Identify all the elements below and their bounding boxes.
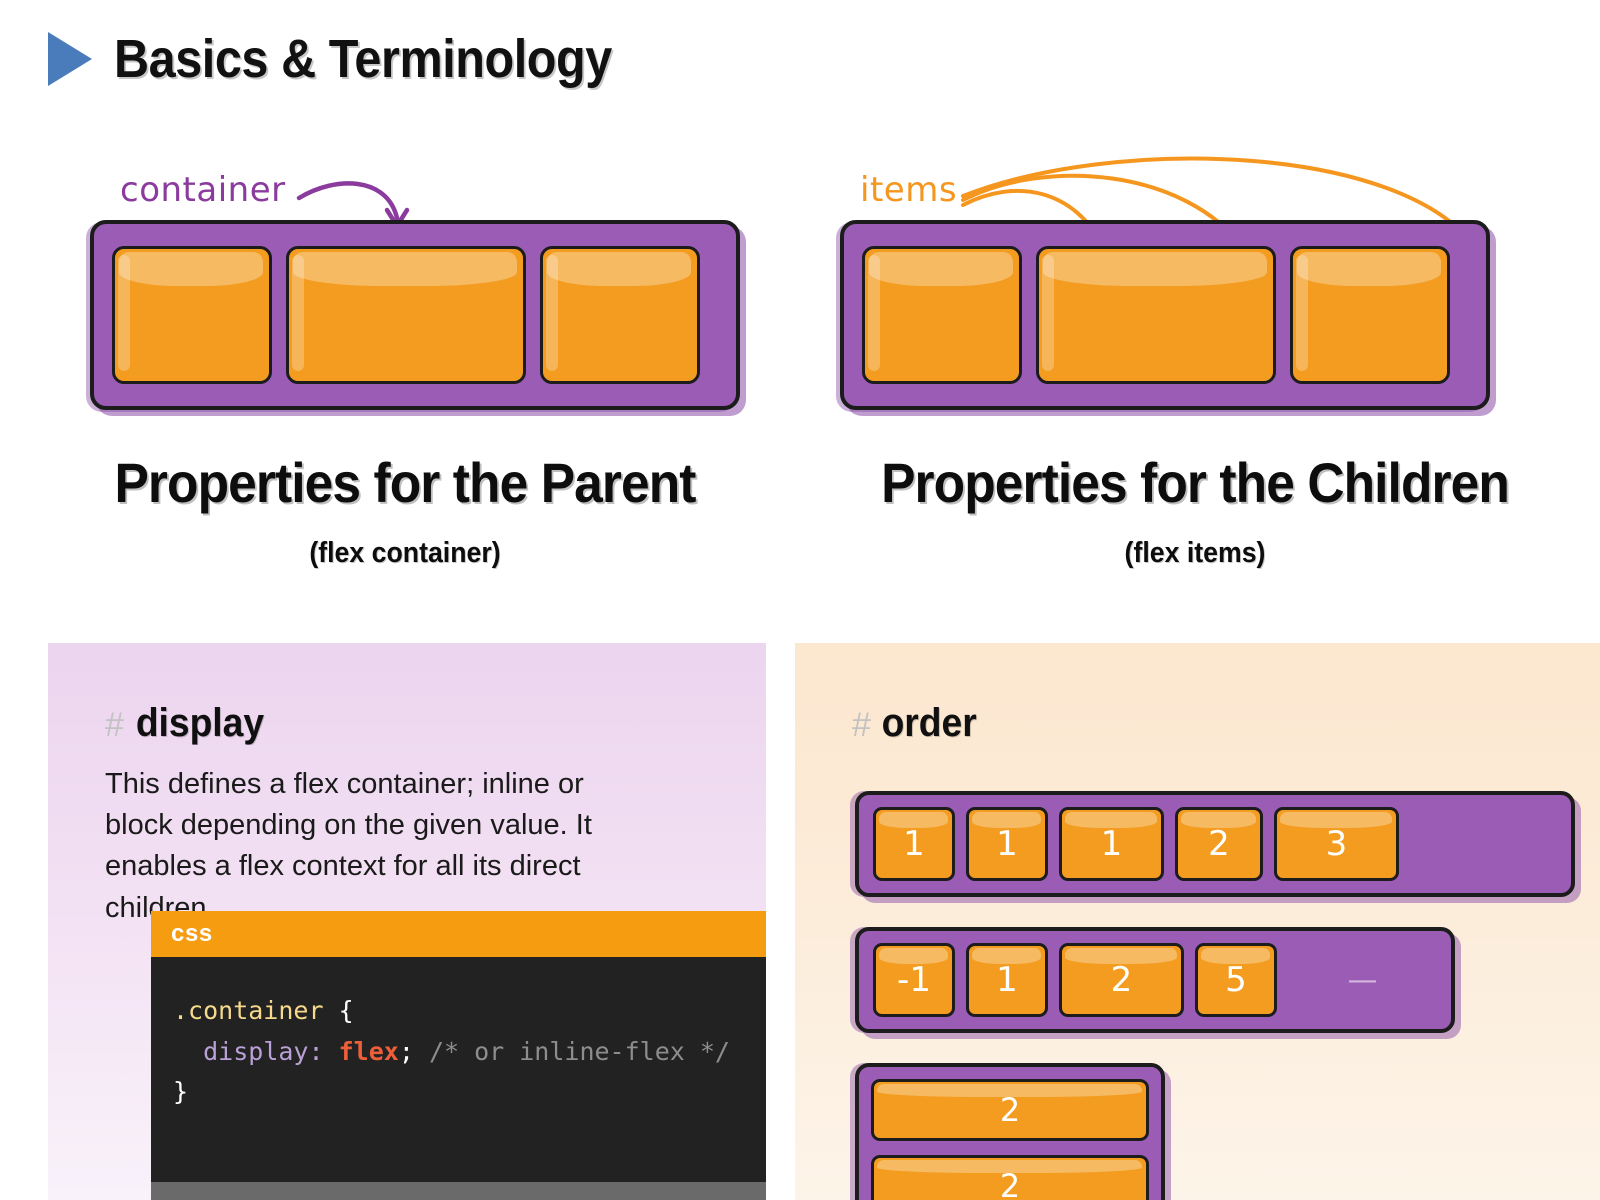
code-close-brace: } [173,1077,188,1106]
order-property-heading: # order [795,643,1600,746]
order-item-value: 2 [1000,1091,1020,1129]
order-item-value: 2 [1208,824,1230,864]
order-item-value: 2 [1111,960,1133,1000]
order-item-value: -1 [897,960,931,1000]
section-title: Properties for the Parent [42,450,769,515]
code-semicolon: ; [399,1037,414,1066]
container-label: container [120,170,286,210]
code-property: display: [203,1037,323,1066]
order-item: 2 [1059,943,1184,1017]
order-item-value: 1 [1101,824,1123,864]
code-language-label: css [151,911,766,957]
parent-section-heading: Properties for the Parent (flex containe… [10,450,800,570]
order-item-value: 3 [1326,824,1348,864]
flex-item [286,246,526,384]
hash-anchor-icon[interactable]: # [105,706,124,745]
order-item-value: 1 [996,960,1018,1000]
order-row: -1 1 2 5 — [855,927,1455,1033]
play-triangle-icon [48,32,92,86]
page-root: Basics & Terminology container items [0,0,1600,1200]
property-name: order [882,701,977,746]
order-item: 3 [1274,807,1399,881]
section-subtitle: (flex items) [832,537,1559,570]
order-item: -1 [873,943,955,1017]
display-property-heading: # display [48,643,766,746]
css-code-block: css .container { display: flex; /* or in… [151,911,766,1200]
order-item: 1 [873,807,955,881]
property-name: display [136,701,264,746]
flex-items-illustration [840,220,1490,410]
order-item: 1 [966,807,1048,881]
order-item-value: 1 [903,824,925,864]
order-item: 1 [1059,807,1164,881]
order-property-panel: # order 1 1 1 2 3 -1 1 2 5 — 2 [795,643,1600,1200]
code-selector: .container [173,996,324,1025]
items-label: items [860,170,957,210]
hash-anchor-icon[interactable]: # [852,706,871,745]
order-item: 1 [966,943,1048,1017]
flex-item [862,246,1022,384]
page-title: Basics & Terminology [114,28,612,90]
section-subtitle: (flex container) [42,537,769,570]
children-section-heading: Properties for the Children (flex items) [800,450,1590,570]
order-item: 2 [1175,807,1263,881]
order-column: 2 2 [855,1063,1165,1200]
order-row: 1 1 1 2 3 [855,791,1575,897]
display-property-panel: # display This defines a flex container;… [48,643,766,1200]
code-comment: /* or inline-flex */ [429,1037,730,1066]
code-content[interactable]: .container { display: flex; /* or inline… [151,957,766,1113]
flex-item [540,246,700,384]
code-open-brace: { [339,996,354,1025]
property-description: This defines a flex container; inline or… [48,746,688,929]
flex-container-illustration [90,220,740,410]
section-title: Properties for the Children [832,450,1559,515]
order-item-value: 2 [1000,1167,1020,1200]
order-empty-space: — [1288,963,1437,998]
order-item: 2 [871,1079,1149,1141]
code-horizontal-scrollbar[interactable] [151,1182,766,1200]
flex-item [1290,246,1450,384]
flex-item [112,246,272,384]
flex-item [1036,246,1276,384]
order-item-value: 1 [996,824,1018,864]
order-item: 2 [871,1155,1149,1200]
order-item-value: 5 [1225,960,1247,1000]
order-item: 5 [1195,943,1277,1017]
order-illustrations: 1 1 1 2 3 -1 1 2 5 — 2 2 [855,791,1575,1200]
page-header: Basics & Terminology [48,28,667,90]
code-value: flex [339,1037,399,1066]
